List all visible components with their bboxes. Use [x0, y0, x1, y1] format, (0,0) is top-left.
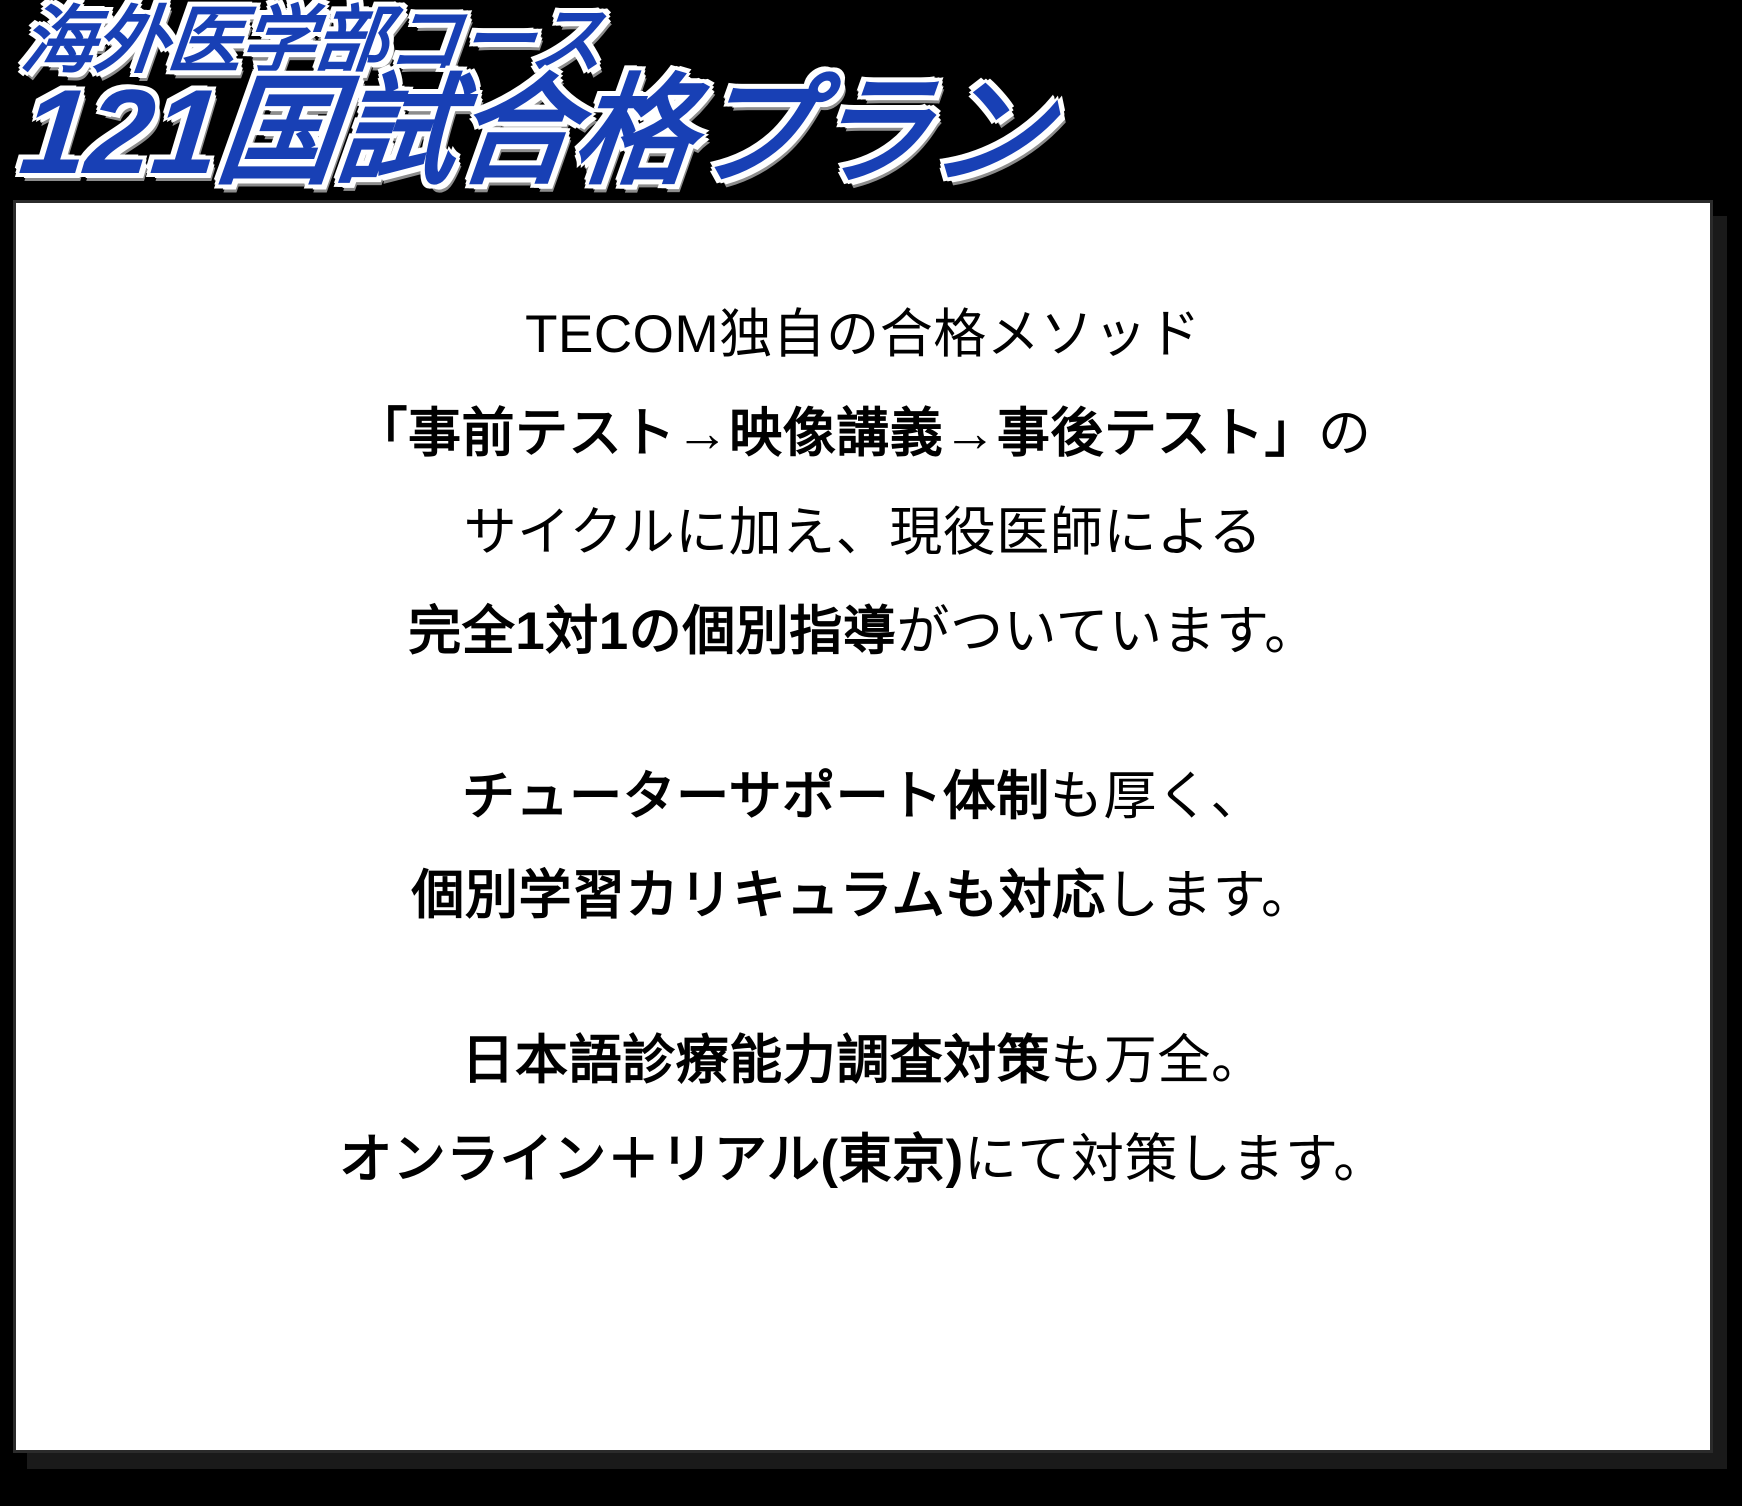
- body-text-emphasis: 日本語診療能力調査対策: [462, 1034, 1051, 1087]
- paragraph-spacer: [16, 945, 1710, 1011]
- body-line: チューターサポート体制も厚く、: [16, 747, 1710, 846]
- body-text: にて対策します。: [964, 1133, 1387, 1186]
- body-text: も厚く、: [1050, 770, 1264, 823]
- body-text-emphasis: オンライン＋リアル(東京): [339, 1133, 964, 1186]
- body-line: 日本語診療能力調査対策も万全。: [16, 1011, 1710, 1110]
- body-text: がついています。: [896, 605, 1317, 658]
- banner-title: 121国試合格プラン: [15, 72, 1742, 192]
- content-card: TECOM独自の合格メソッド「事前テスト→映像講義→事後テスト」のサイクルに加え…: [13, 200, 1713, 1453]
- body-text: TECOM独自の合格メソッド: [525, 308, 1201, 361]
- body-text: します。: [1106, 869, 1315, 922]
- body-text: も万全。: [1050, 1034, 1264, 1087]
- body-line: オンライン＋リアル(東京)にて対策します。: [16, 1110, 1710, 1209]
- body-line: 「事前テスト→映像講義→事後テスト」の: [16, 384, 1710, 483]
- content-card-body: TECOM独自の合格メソッド「事前テスト→映像講義→事後テスト」のサイクルに加え…: [16, 203, 1710, 1450]
- body-line: 完全1対1の個別指導がついています。: [16, 582, 1710, 681]
- body-text: サイクルに加え、現役医師による: [464, 506, 1263, 559]
- body-line: サイクルに加え、現役医師による: [16, 483, 1710, 582]
- body-text-emphasis: 個別学習カリキュラムも対応: [411, 869, 1105, 922]
- body-text-emphasis: 「事前テスト→映像講義→事後テスト」: [354, 407, 1318, 460]
- banner-heading-group: 海外医学部コース 121国試合格プラン: [0, 0, 1742, 192]
- body-line: 個別学習カリキュラムも対応します。: [16, 846, 1710, 945]
- paragraph-spacer: [16, 681, 1710, 747]
- body-text: の: [1318, 407, 1372, 460]
- body-line: TECOM独自の合格メソッド: [16, 285, 1710, 384]
- body-text-emphasis: チューターサポート体制: [462, 770, 1050, 823]
- banner-subtitle: 海外医学部コース: [18, 0, 1742, 78]
- body-text-emphasis: 完全1対1の個別指導: [408, 605, 896, 658]
